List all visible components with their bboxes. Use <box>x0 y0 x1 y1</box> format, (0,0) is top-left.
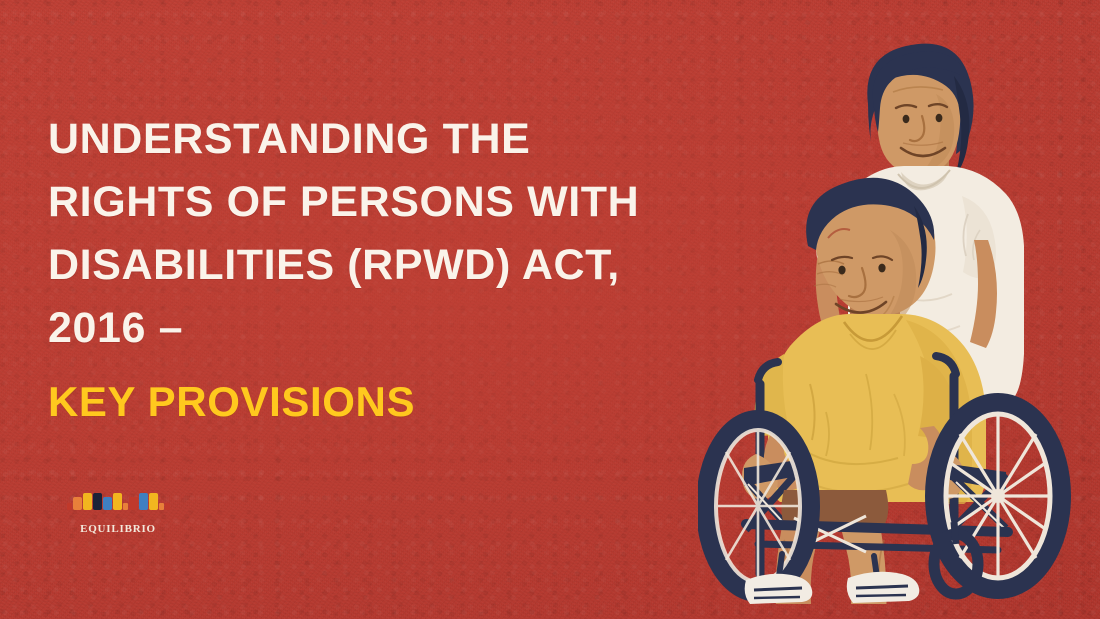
headline-line-2: RIGHTS OF PERSONS WITH <box>48 171 708 234</box>
logo-wordmark: EQUILIBRIO <box>58 523 178 535</box>
headline-line-1: UNDERSTANDING THE <box>48 108 708 171</box>
headline-accent-line: KEY PROVISIONS <box>48 370 708 433</box>
wheelchair-wheel-right-hub <box>991 489 1005 503</box>
slide-canvas: UNDERSTANDING THE RIGHTS OF PERSONS WITH… <box>0 0 1100 619</box>
brand-logo[interactable]: EQUILIBRIO <box>58 490 178 535</box>
man-eye-left <box>838 266 845 275</box>
wheelchair-caster-fork <box>954 522 956 544</box>
headline-block: UNDERSTANDING THE RIGHTS OF PERSONS WITH… <box>48 108 708 433</box>
man-shoe-right-stripe-1 <box>856 586 908 588</box>
headline-line-3: DISABILITIES (RPWD) ACT, <box>48 234 708 297</box>
man-shoe-right-stripe-2 <box>856 595 906 596</box>
man-shoe-left-stripe-1 <box>754 588 802 590</box>
man-eye-right <box>878 264 885 273</box>
woman-eye-left <box>903 115 910 123</box>
logo-blocks-icon <box>58 490 178 510</box>
man-shoe-left-stripe-2 <box>754 597 800 598</box>
woman-eye-right <box>936 114 943 122</box>
illustration-wheelchair-caregiver <box>698 24 1098 604</box>
headline-line-4: 2016 – <box>48 297 708 360</box>
